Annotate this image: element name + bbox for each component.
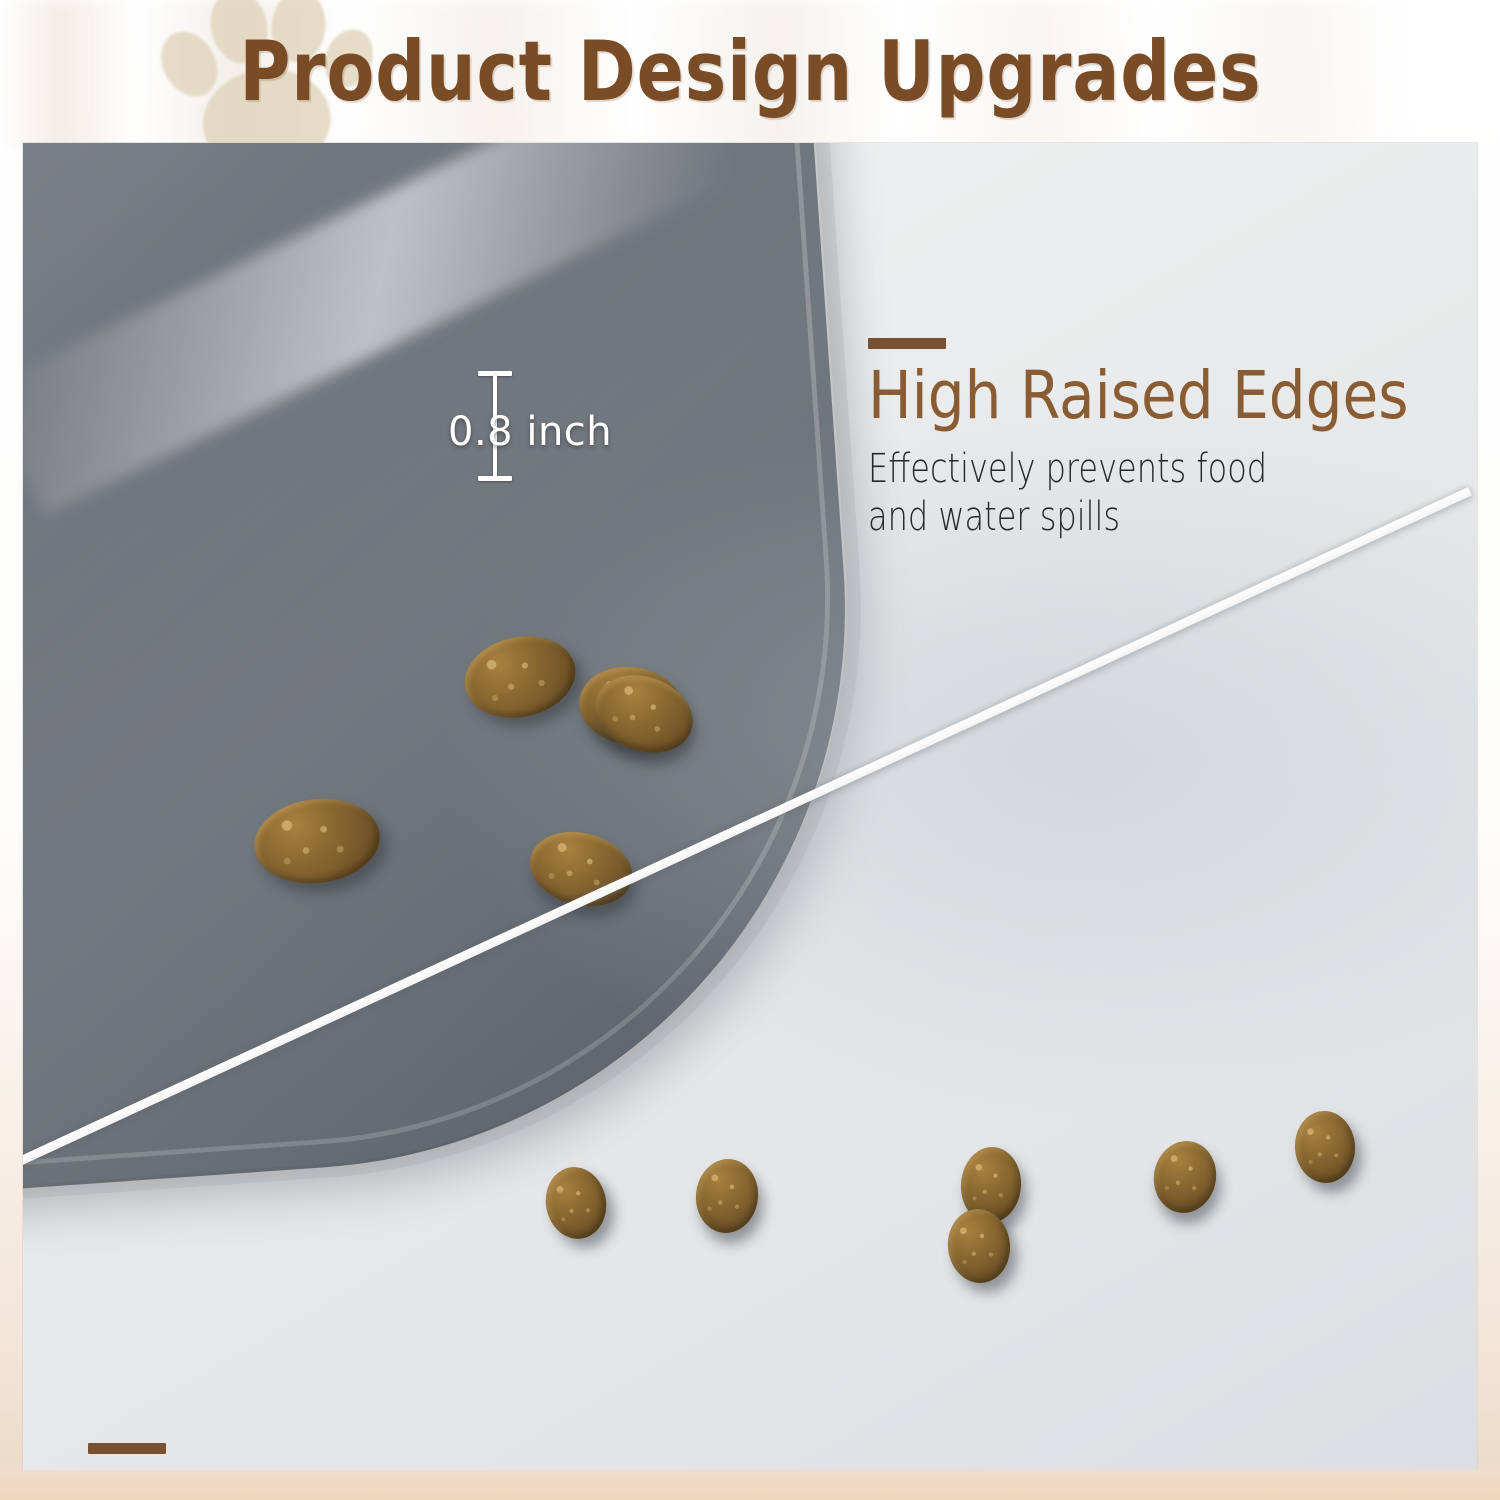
header: Product Design Upgrades xyxy=(0,0,1500,143)
callout-rule xyxy=(88,1443,166,1454)
callout-rule xyxy=(868,338,946,349)
dimension-label: 0.8 inch xyxy=(448,409,612,455)
callout-keeping-floor-clean: Keeping the floor clean Minimizes time s… xyxy=(88,1443,1107,1470)
page-title: Product Design Upgrades xyxy=(239,23,1261,120)
product-photo-frame: smilool 0.8 inch High Raised Edges Ef xyxy=(23,143,1477,1470)
bottom-beige-strip xyxy=(0,1470,1500,1500)
callout-high-raised-edges: High Raised Edges Effectively prevents f… xyxy=(868,338,1477,542)
callout-subline: Effectively prevents food and water spil… xyxy=(868,445,1359,543)
callout-headline: High Raised Edges xyxy=(868,362,1409,431)
product-infographic-canvas: Product Design Upgrades smilool xyxy=(0,0,1500,1500)
